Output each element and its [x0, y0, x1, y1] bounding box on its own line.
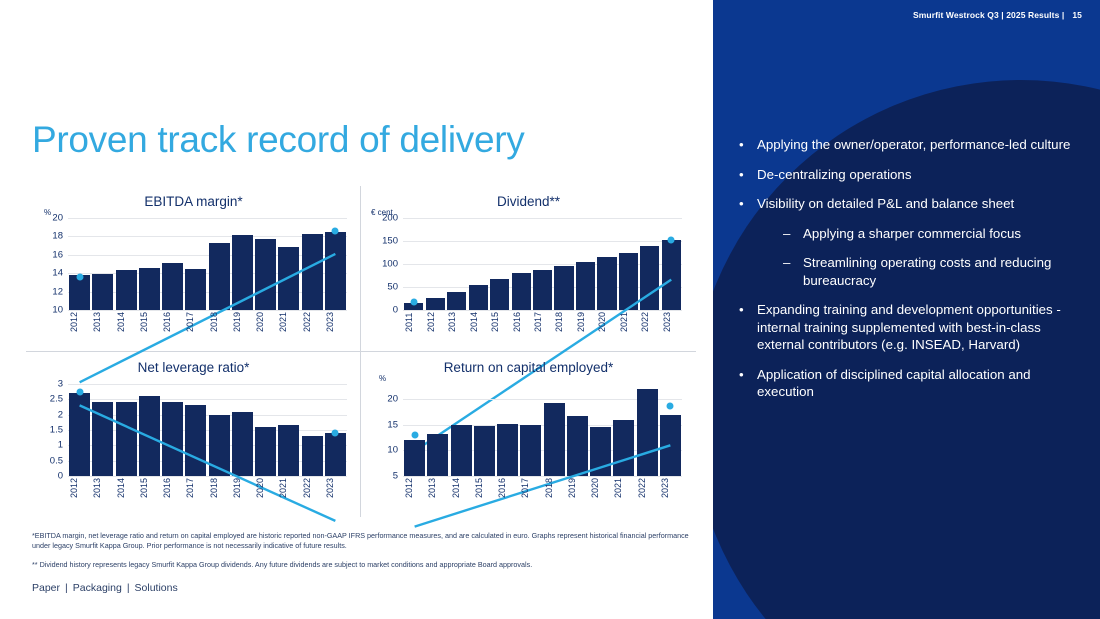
y-axis-tick-label: 2	[58, 409, 63, 420]
chart-dividend: Dividend**€ cent050100150200201120122013…	[361, 186, 696, 351]
x-axis-tick-label: 2013	[447, 312, 466, 332]
bar	[619, 253, 638, 311]
bar	[597, 257, 616, 310]
gridline	[68, 476, 347, 477]
gridline	[403, 476, 682, 477]
right-content-panel: Smurfit Westrock Q3 | 2025 Results |15 •…	[713, 0, 1100, 619]
bullet-text: Visibility on detailed P&L and balance s…	[757, 195, 1087, 213]
plot-area: 050100150200	[403, 218, 682, 310]
y-axis-tick-label: 10	[387, 445, 398, 456]
x-axis-tick-label: 2023	[325, 312, 346, 332]
bar	[232, 412, 253, 476]
y-axis-tick-label: 0	[58, 471, 63, 482]
bar	[92, 402, 113, 476]
bar	[255, 239, 276, 310]
bar	[302, 234, 323, 310]
bullet-text: Applying a sharper commercial focus	[803, 225, 1087, 243]
bar	[662, 240, 681, 310]
x-axis-labels: 2012201320142015201620172018201920202021…	[403, 478, 682, 498]
bullet-text: Application of disciplined capital alloc…	[757, 366, 1087, 401]
x-axis-tick-label: 2018	[209, 312, 230, 332]
trend-start-marker	[411, 432, 418, 439]
y-axis-tick-label: 1.5	[50, 425, 63, 436]
x-axis-tick-label: 2016	[162, 312, 183, 332]
x-axis-tick-label: 2023	[662, 312, 681, 332]
trend-end-marker	[332, 430, 339, 437]
chart-title: EBITDA margin*	[26, 194, 361, 209]
x-axis-labels: 2012201320142015201620172018201920202021…	[68, 478, 347, 498]
header-meta: Smurfit Westrock Q3 | 2025 Results |15	[913, 10, 1082, 20]
bar	[427, 434, 448, 476]
x-axis-tick-label: 2019	[576, 312, 595, 332]
x-axis-labels: 2012201320142015201620172018201920202021…	[68, 312, 347, 332]
bar	[116, 270, 137, 310]
y-axis-unit-label: %	[379, 374, 386, 383]
bar	[447, 292, 466, 310]
tagline-paper: Paper	[32, 582, 60, 594]
bar	[490, 279, 509, 310]
x-axis-tick-label: 2017	[185, 312, 206, 332]
trend-end-marker	[668, 237, 675, 244]
x-axis-tick-label: 2012	[426, 312, 445, 332]
y-axis-tick-label: 14	[52, 268, 63, 279]
bar	[590, 427, 611, 476]
x-axis-tick-label: 2016	[497, 478, 518, 498]
x-axis-tick-label: 2020	[597, 312, 616, 332]
x-axis-tick-label: 2012	[69, 478, 90, 498]
x-axis-tick-label: 2017	[520, 478, 541, 498]
x-axis-tick-label: 2022	[640, 312, 659, 332]
bar	[325, 232, 346, 310]
bar	[209, 415, 230, 476]
footnote-1: *EBITDA margin, net leverage ratio and r…	[32, 531, 692, 551]
tagline-sep-2: |	[127, 582, 130, 594]
bar	[520, 425, 541, 476]
x-axis-tick-label: 2019	[567, 478, 588, 498]
bar	[162, 263, 183, 310]
bullet-item: –Applying a sharper commercial focus	[779, 225, 1087, 243]
bar	[116, 402, 137, 476]
tagline: Paper|Packaging|Solutions	[32, 582, 178, 594]
bar	[325, 433, 346, 476]
bar	[404, 440, 425, 476]
bar-series	[68, 218, 347, 310]
x-axis-tick-label: 2022	[302, 478, 323, 498]
x-axis-tick-label: 2023	[325, 478, 346, 498]
bar	[640, 246, 659, 310]
bar	[162, 402, 183, 476]
chart-title: Dividend**	[361, 194, 696, 209]
bar	[576, 262, 595, 310]
x-axis-tick-label: 2012	[404, 478, 425, 498]
x-axis-tick-label: 2014	[116, 478, 137, 498]
y-axis-tick-label: 100	[382, 259, 398, 270]
chart-title: Net leverage ratio*	[26, 360, 361, 375]
bar	[613, 420, 634, 476]
bar	[278, 247, 299, 310]
bar	[426, 298, 445, 310]
bar	[469, 285, 488, 310]
y-axis-tick-label: 200	[382, 213, 398, 224]
trend-start-marker	[76, 273, 83, 280]
panel-divider	[710, 0, 713, 619]
x-axis-tick-label: 2015	[139, 478, 160, 498]
plot-area: 5101520	[403, 384, 682, 476]
y-axis-unit-label: %	[44, 208, 51, 217]
x-axis-tick-label: 2013	[92, 478, 113, 498]
y-axis-tick-label: 3	[58, 379, 63, 390]
x-axis-tick-label: 2021	[278, 312, 299, 332]
x-axis-tick-label: 2013	[92, 312, 113, 332]
y-axis-tick-label: 5	[393, 471, 398, 482]
bar	[92, 274, 113, 310]
bullet-text: Streamlining operating costs and reducin…	[803, 254, 1087, 289]
x-axis-tick-label: 2019	[232, 312, 253, 332]
bar	[278, 425, 299, 476]
bullet-list: •Applying the owner/operator, performanc…	[735, 136, 1087, 413]
bar	[139, 268, 160, 310]
x-axis-tick-label: 2014	[116, 312, 137, 332]
tagline-packaging: Packaging	[73, 582, 122, 594]
y-axis-tick-label: 50	[387, 282, 398, 293]
bullet-text: Applying the owner/operator, performance…	[757, 136, 1087, 154]
x-axis-tick-label: 2018	[554, 312, 573, 332]
x-axis-tick-label: 2020	[255, 312, 276, 332]
bar	[209, 243, 230, 310]
bullet-item: •Expanding training and development oppo…	[735, 301, 1087, 354]
x-axis-tick-label: 2015	[490, 312, 509, 332]
page-number: 15	[1072, 10, 1082, 20]
x-axis-tick-label: 2021	[278, 478, 299, 498]
x-axis-tick-label: 2018	[209, 478, 230, 498]
x-axis-tick-label: 2012	[69, 312, 90, 332]
bullet-marker-icon: •	[735, 301, 757, 354]
chart-title: Return on capital employed*	[361, 360, 696, 375]
trend-end-marker	[332, 227, 339, 234]
bar	[544, 403, 565, 476]
bar-series	[403, 384, 682, 476]
y-axis-tick-label: 2.5	[50, 394, 63, 405]
y-axis-tick-label: 0.5	[50, 455, 63, 466]
x-axis-tick-label: 2016	[162, 478, 183, 498]
plot-area: 00.511.522.53	[68, 384, 347, 476]
tagline-solutions: Solutions	[135, 582, 178, 594]
bar	[497, 424, 518, 476]
x-axis-labels: 2011201220132014201520162017201820192020…	[403, 312, 682, 332]
trend-start-marker	[410, 298, 417, 305]
bullet-marker-icon: •	[735, 366, 757, 401]
y-axis-tick-label: 16	[52, 249, 63, 260]
bullet-item: –Streamlining operating costs and reduci…	[779, 254, 1087, 289]
y-axis-tick-label: 150	[382, 236, 398, 247]
bullet-item: •Application of disciplined capital allo…	[735, 366, 1087, 401]
bullet-marker-icon: •	[735, 166, 757, 184]
bar-series	[68, 384, 347, 476]
tagline-sep-1: |	[65, 582, 68, 594]
bar	[451, 425, 472, 476]
x-axis-tick-label: 2020	[255, 478, 276, 498]
x-axis-tick-label: 2021	[619, 312, 638, 332]
x-axis-tick-label: 2014	[469, 312, 488, 332]
y-axis-tick-label: 20	[387, 394, 398, 405]
bullet-item: •Visibility on detailed P&L and balance …	[735, 195, 1087, 213]
bullet-text: De-centralizing operations	[757, 166, 1087, 184]
bullet-marker-icon: •	[735, 136, 757, 154]
x-axis-tick-label: 2019	[232, 478, 253, 498]
x-axis-tick-label: 2011	[404, 312, 423, 332]
page-title: Proven track record of delivery	[32, 119, 524, 161]
bar	[474, 426, 495, 476]
x-axis-tick-label: 2020	[590, 478, 611, 498]
bar	[185, 405, 206, 476]
bar	[185, 269, 206, 310]
x-axis-tick-label: 2017	[185, 478, 206, 498]
trend-end-marker	[667, 402, 674, 409]
y-axis-tick-label: 1	[58, 440, 63, 451]
x-axis-tick-label: 2017	[533, 312, 552, 332]
y-axis-tick-label: 10	[52, 305, 63, 316]
y-axis-tick-label: 0	[393, 305, 398, 316]
x-axis-tick-label: 2018	[544, 478, 565, 498]
gridline	[403, 310, 682, 311]
trend-start-marker	[76, 388, 83, 395]
y-axis-tick-label: 20	[52, 213, 63, 224]
slide-root: Smurfit Westrock Q3 | 2025 Results |15 •…	[0, 0, 1100, 619]
chart-net-leverage: Net leverage ratio*00.511.522.5320122013…	[26, 352, 361, 517]
bullet-marker-icon: •	[735, 195, 757, 213]
footnote-2: ** Dividend history represents legacy Sm…	[32, 560, 692, 570]
x-axis-tick-label: 2022	[302, 312, 323, 332]
bar	[567, 416, 588, 476]
y-axis-tick-label: 18	[52, 231, 63, 242]
charts-grid: EBITDA margin*%1012141618202012201320142…	[26, 186, 696, 517]
header-meta-label: Smurfit Westrock Q3 | 2025 Results |	[913, 10, 1064, 20]
x-axis-tick-label: 2016	[512, 312, 531, 332]
x-axis-tick-label: 2014	[451, 478, 472, 498]
dash-marker-icon: –	[779, 254, 803, 289]
plot-area: 101214161820	[68, 218, 347, 310]
gridline	[68, 310, 347, 311]
bar	[512, 273, 531, 310]
y-axis-tick-label: 12	[52, 286, 63, 297]
x-axis-tick-label: 2023	[660, 478, 681, 498]
x-axis-tick-label: 2015	[139, 312, 160, 332]
x-axis-tick-label: 2015	[474, 478, 495, 498]
bar	[660, 415, 681, 476]
bar	[637, 389, 658, 476]
bar	[302, 436, 323, 476]
dash-marker-icon: –	[779, 225, 803, 243]
bullet-item: •Applying the owner/operator, performanc…	[735, 136, 1087, 154]
chart-roce: Return on capital employed*%510152020122…	[361, 352, 696, 517]
x-axis-tick-label: 2013	[427, 478, 448, 498]
bar	[533, 270, 552, 310]
bar	[232, 235, 253, 310]
bar	[139, 396, 160, 476]
bullet-item: •De-centralizing operations	[735, 166, 1087, 184]
footnotes: *EBITDA margin, net leverage ratio and r…	[32, 531, 692, 579]
y-axis-tick-label: 15	[387, 419, 398, 430]
bullet-text: Expanding training and development oppor…	[757, 301, 1087, 354]
bar	[69, 393, 90, 476]
x-axis-tick-label: 2021	[613, 478, 634, 498]
x-axis-tick-label: 2022	[637, 478, 658, 498]
chart-ebitda: EBITDA margin*%1012141618202012201320142…	[26, 186, 361, 351]
bar	[554, 266, 573, 310]
bar-series	[403, 218, 682, 310]
bar	[255, 427, 276, 476]
